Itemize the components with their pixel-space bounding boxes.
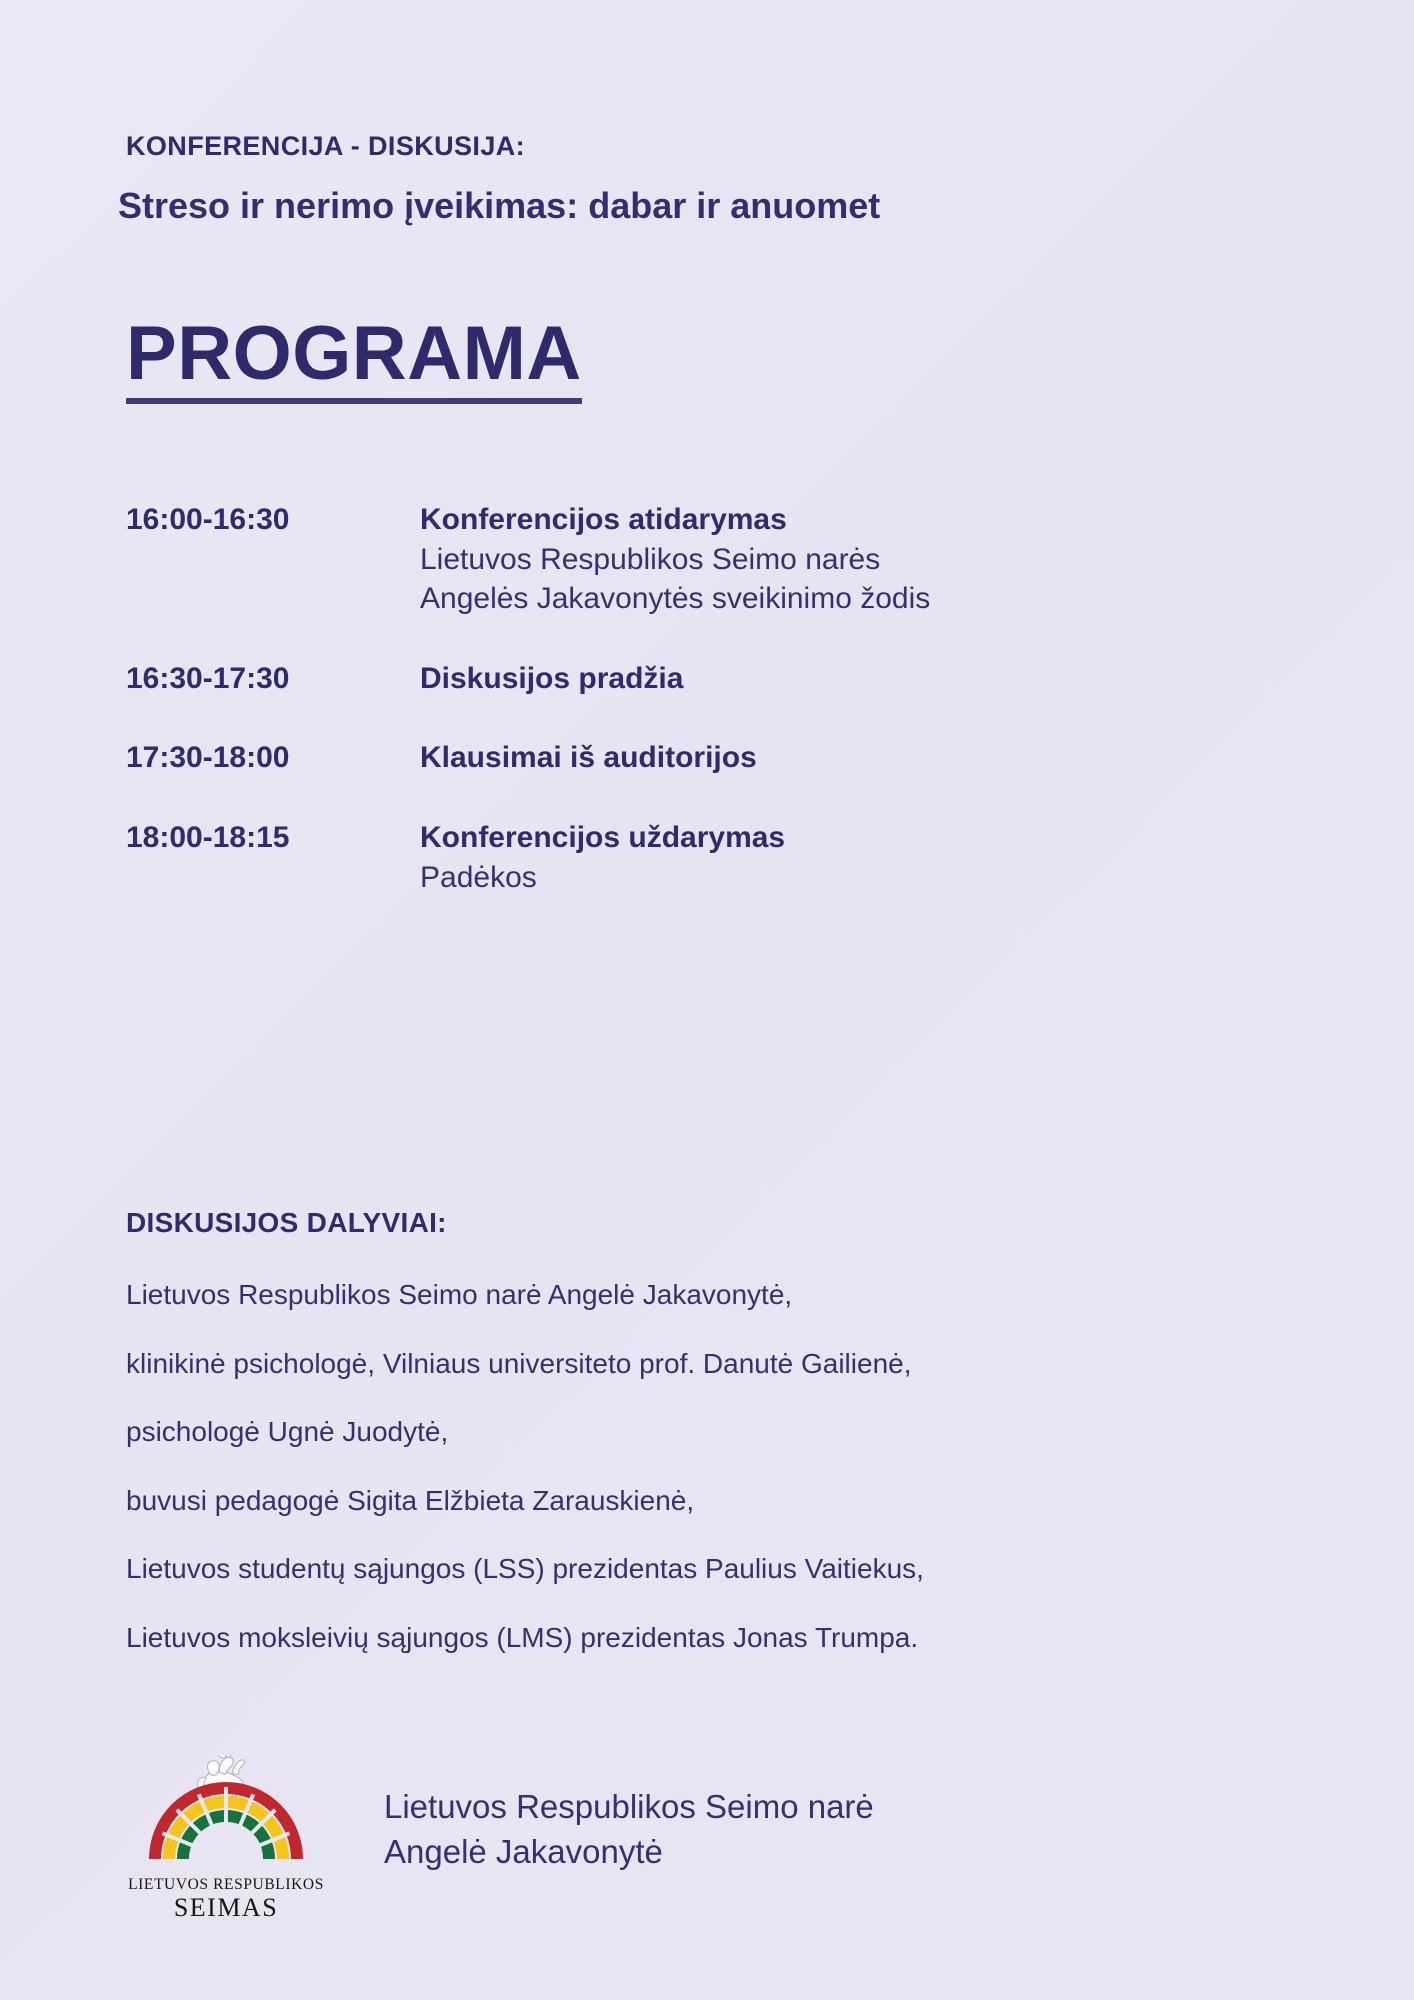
schedule-title: Diskusijos pradžia	[420, 659, 1286, 699]
schedule-title: Konferencijos uždarymas	[420, 818, 1286, 858]
seimas-logo: LIETUVOS RESPUBLIKOS SEIMAS	[126, 1755, 326, 1921]
participants-section: DISKUSIJOS DALYVIAI: Lietuvos Respubliko…	[126, 1207, 1306, 1655]
signature-line-2: Angelė Jakavonytė	[384, 1829, 874, 1875]
schedule-body: Konferencijos uždarymas Padėkos	[420, 818, 1286, 897]
schedule-list: 16:00-16:30 Konferencijos atidarymas Lie…	[126, 500, 1286, 897]
schedule-time: 18:00-18:15	[126, 818, 420, 858]
schedule-body: Konferencijos atidarymas Lietuvos Respub…	[420, 500, 1286, 619]
participant-item: buvusi pedagogė Sigita Elžbieta Zarauski…	[126, 1484, 1306, 1518]
conference-kicker: KONFERENCIJA - DISKUSIJA:	[126, 131, 525, 162]
schedule-row: 16:30-17:30 Diskusijos pradžia	[126, 659, 1286, 699]
participant-item: klinikinė psichologė, Vilniaus universit…	[126, 1347, 1306, 1381]
seimas-coat-of-arms-icon	[141, 1755, 311, 1873]
signature-line-1: Lietuvos Respublikos Seimo narė	[384, 1784, 874, 1830]
poster-page: KONFERENCIJA - DISKUSIJA: Streso ir neri…	[0, 0, 1414, 2000]
schedule-title: Konferencijos atidarymas	[420, 500, 1286, 540]
schedule-time: 16:00-16:30	[126, 500, 420, 540]
logo-caption-line-2: SEIMAS	[174, 1894, 278, 1921]
schedule-body: Diskusijos pradžia	[420, 659, 1286, 699]
participant-item: Lietuvos Respublikos Seimo narė Angelė J…	[126, 1278, 1306, 1312]
participants-heading: DISKUSIJOS DALYVIAI:	[126, 1207, 1306, 1239]
conference-subtitle: Streso ir nerimo įveikimas: dabar ir anu…	[118, 185, 880, 227]
schedule-detail-line: Padėkos	[420, 858, 1286, 898]
footer: LIETUVOS RESPUBLIKOS SEIMAS Lietuvos Res…	[126, 1755, 874, 1921]
schedule-row: 16:00-16:30 Konferencijos atidarymas Lie…	[126, 500, 1286, 619]
logo-caption-line-1: LIETUVOS RESPUBLIKOS	[128, 1876, 324, 1894]
schedule-title: Klausimai iš auditorijos	[420, 738, 1286, 778]
signature-block: Lietuvos Respublikos Seimo narė Angelė J…	[384, 1784, 874, 1893]
schedule-detail-line: Angelės Jakavonytės sveikinimo žodis	[420, 579, 1286, 619]
schedule-row: 17:30-18:00 Klausimai iš auditorijos	[126, 738, 1286, 778]
schedule-detail-line: Lietuvos Respublikos Seimo narės	[420, 540, 1286, 580]
schedule-time: 17:30-18:00	[126, 738, 420, 778]
schedule-time: 16:30-17:30	[126, 659, 420, 699]
participant-item: Lietuvos studentų sąjungos (LSS) prezide…	[126, 1552, 1306, 1586]
schedule-row: 18:00-18:15 Konferencijos uždarymas Padė…	[126, 818, 1286, 897]
page-title: PROGRAMA	[126, 316, 582, 404]
participant-item: Lietuvos moksleivių sąjungos (LMS) prezi…	[126, 1621, 1306, 1655]
schedule-body: Klausimai iš auditorijos	[420, 738, 1286, 778]
participant-item: psichologė Ugnė Juodytė,	[126, 1415, 1306, 1449]
